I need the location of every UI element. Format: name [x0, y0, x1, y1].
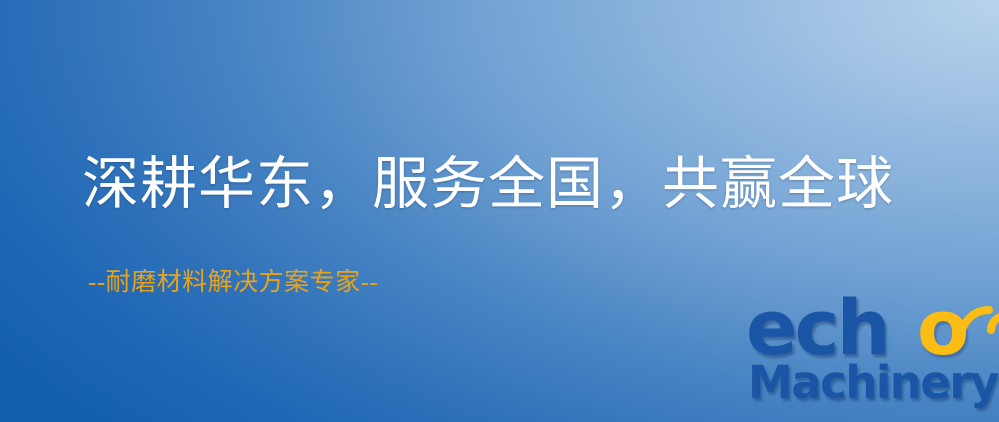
logo-tagline-text: Machinery	[748, 356, 998, 409]
logo-wordmark-blue-text: ech	[746, 290, 888, 366]
logo-tagline: Machinery®	[748, 360, 999, 405]
hero-banner: 深耕华东，服务全国，共赢全球 --耐磨材料解决方案专家-- ech o Mach…	[0, 0, 999, 422]
signal-wave-icon	[951, 292, 999, 350]
banner-headline: 深耕华东，服务全国，共赢全球	[82, 155, 894, 215]
banner-subtitle: --耐磨材料解决方案专家--	[88, 268, 378, 298]
company-logo[interactable]: ech o Machinery®	[742, 296, 994, 418]
